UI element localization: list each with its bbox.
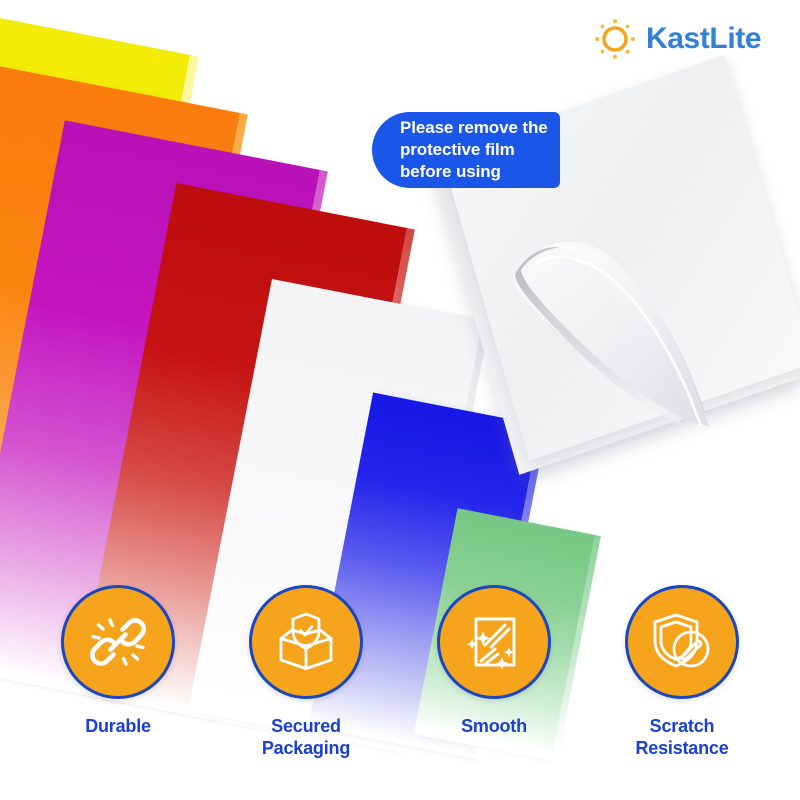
feature-scratch-resistance-circle (625, 585, 739, 699)
callout-text: Please remove the protective film before… (400, 117, 548, 182)
feature-smooth-circle (437, 585, 551, 699)
feature-secured-packaging: Secured Packaging (221, 585, 391, 760)
sun-icon (592, 16, 638, 62)
feature-secured-packaging-label: Secured Packaging (262, 716, 350, 760)
feature-durable: Durable (33, 585, 203, 738)
shield-box-icon (272, 608, 340, 676)
brand-name: KastLite (646, 22, 761, 56)
feature-scratch-resistance-label: Scratch Resistance (635, 716, 728, 760)
feature-badge-row: Durable Secured Packaging (0, 585, 800, 760)
feature-durable-circle (61, 585, 175, 699)
chain-link-icon (85, 609, 151, 675)
protective-film-callout: Please remove the protective film before… (372, 112, 560, 188)
product-image: KastLite Please remove the protective fi… (0, 0, 800, 800)
sparkle-panel-icon (461, 609, 527, 675)
shield-blade-icon (648, 608, 716, 676)
feature-smooth-label: Smooth (461, 716, 527, 738)
feature-scratch-resistance: Scratch Resistance (597, 585, 767, 760)
feature-smooth: Smooth (409, 585, 579, 738)
feature-secured-packaging-circle (249, 585, 363, 699)
brand-logo: KastLite (592, 16, 761, 62)
feature-durable-label: Durable (85, 716, 151, 738)
